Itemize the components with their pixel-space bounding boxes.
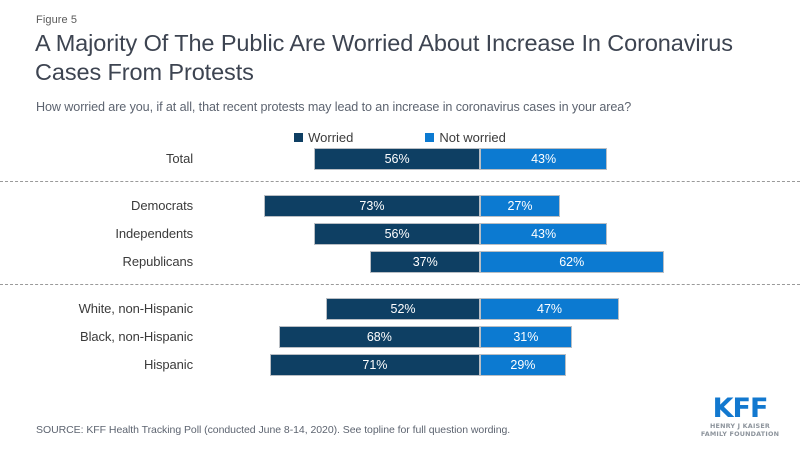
bar-segment-not-worried[interactable]: 47%: [480, 298, 619, 320]
chart-row: Independents56%43%: [0, 221, 800, 247]
bar-segment-not-worried[interactable]: 31%: [480, 326, 572, 348]
legend-swatch-icon: [294, 133, 303, 142]
bar-track: 73%27%: [0, 193, 800, 219]
bar-segment-worried[interactable]: 68%: [279, 326, 480, 348]
chart-group-party: Democrats73%27%Independents56%43%Republi…: [0, 193, 800, 275]
bar-track: 56%43%: [0, 146, 800, 172]
bar-segment-not-worried[interactable]: 62%: [480, 251, 664, 273]
source-note: SOURCE: KFF Health Tracking Poll (conduc…: [36, 424, 510, 436]
legend-label: Worried: [308, 130, 353, 145]
kff-logo-subtitle-line2: FAMILY FOUNDATION: [692, 430, 788, 438]
chart-row: Republicans37%62%: [0, 249, 800, 275]
bar-segment-not-worried[interactable]: 27%: [480, 195, 560, 217]
bar-segment-not-worried[interactable]: 43%: [480, 223, 607, 245]
kff-logo-subtitle-line1: HENRY J KAISER: [692, 422, 788, 430]
chart-row: Hispanic71%29%: [0, 352, 800, 378]
figure-label: Figure 5: [36, 14, 77, 26]
chart-row: Total56%43%: [0, 146, 800, 172]
bar-segment-not-worried[interactable]: 43%: [480, 148, 607, 170]
bar-segment-worried[interactable]: 37%: [370, 251, 480, 273]
chart-group-total: Total56%43%: [0, 146, 800, 172]
legend-swatch-icon: [425, 133, 434, 142]
group-separator: [0, 181, 800, 182]
chart-row: White, non-Hispanic52%47%: [0, 296, 800, 322]
chart-row: Black, non-Hispanic68%31%: [0, 324, 800, 350]
bar-track: 52%47%: [0, 296, 800, 322]
group-separator: [0, 284, 800, 285]
kff-wordmark: KFF: [692, 396, 788, 422]
bar-segment-worried[interactable]: 56%: [314, 223, 480, 245]
bar-track: 37%62%: [0, 249, 800, 275]
legend-item-not-worried[interactable]: Not worried: [425, 130, 505, 145]
bar-track: 56%43%: [0, 221, 800, 247]
bar-segment-worried[interactable]: 52%: [326, 298, 480, 320]
bar-segment-worried[interactable]: 73%: [264, 195, 480, 217]
bar-track: 71%29%: [0, 352, 800, 378]
bar-track: 68%31%: [0, 324, 800, 350]
chart-plot-area: Total56%43%Democrats73%27%Independents56…: [0, 146, 800, 396]
bar-segment-worried[interactable]: 71%: [270, 354, 480, 376]
chart-group-race_ethnicity: White, non-Hispanic52%47%Black, non-Hisp…: [0, 296, 800, 378]
chart-legend: Worried Not worried: [0, 128, 800, 146]
legend-item-worried[interactable]: Worried: [294, 130, 353, 145]
bar-segment-not-worried[interactable]: 29%: [480, 354, 566, 376]
kff-logo: KFF HENRY J KAISER FAMILY FOUNDATION: [692, 396, 788, 438]
chart-question-subtitle: How worried are you, if at all, that rec…: [36, 100, 776, 114]
bar-segment-worried[interactable]: 56%: [314, 148, 480, 170]
page-title: A Majority Of The Public Are Worried Abo…: [35, 29, 775, 87]
chart-row: Democrats73%27%: [0, 193, 800, 219]
legend-label: Not worried: [439, 130, 505, 145]
